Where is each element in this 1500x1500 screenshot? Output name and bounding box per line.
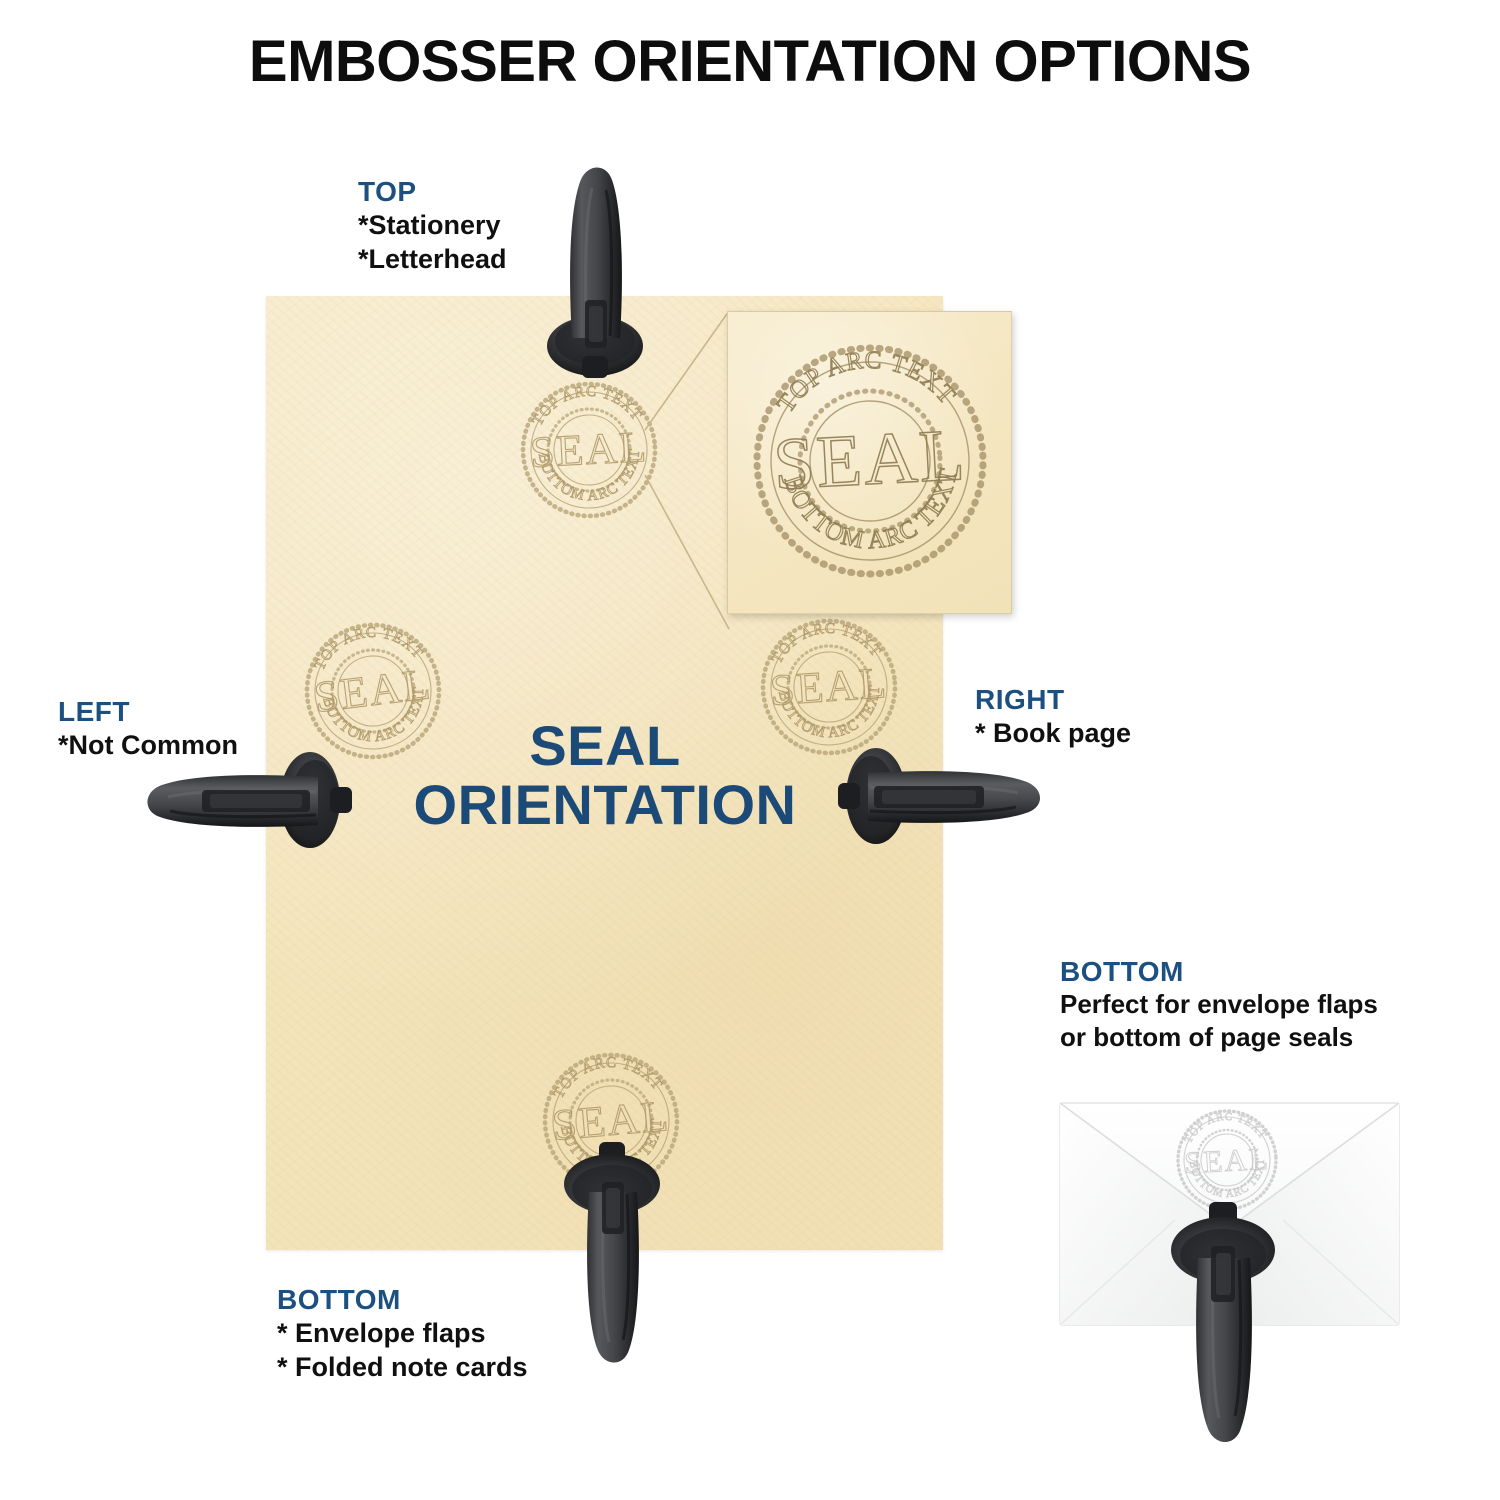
annotation-right: RIGHT * Book page: [975, 684, 1131, 750]
annotation-left-heading: LEFT: [58, 696, 238, 728]
svg-text:BOTTOM ARC TEXT: BOTTOM ARC TEXT: [778, 464, 967, 559]
annotation-right-heading: RIGHT: [975, 684, 1131, 716]
page-title: EMBOSSER ORIENTATION OPTIONS: [0, 28, 1500, 95]
annotation-top-line-2: *Letterhead: [358, 242, 507, 276]
embosser-bottom: [557, 1140, 667, 1380]
annotation-bottom-left-line-2: * Folded note cards: [277, 1350, 528, 1384]
annotation-bottom-left-heading: BOTTOM: [277, 1284, 528, 1316]
svg-text:TOP ARC TEXT: TOP ARC TEXT: [770, 342, 962, 419]
annotation-top-heading: TOP: [358, 176, 507, 208]
seal-impression-magnified: TOP ARC TEXT BOTTOM ARC TEXT SEAL: [739, 330, 1002, 593]
annotation-bottom-left: BOTTOM * Envelope flaps * Folded note ca…: [277, 1284, 528, 1384]
embosser-envelope: [1163, 1200, 1283, 1460]
annotation-bottom-right: BOTTOM Perfect for envelope flaps or bot…: [1060, 956, 1378, 1054]
infographic-canvas: EMBOSSER ORIENTATION OPTIONS TOP ARC TEX…: [0, 0, 1500, 1500]
svg-text:SEAL: SEAL: [771, 414, 968, 506]
annotation-right-line-1: * Book page: [975, 716, 1131, 750]
magnified-seal-panel: TOP ARC TEXT BOTTOM ARC TEXT SEAL: [727, 311, 1012, 614]
annotation-bottom-right-heading: BOTTOM: [1060, 956, 1378, 988]
annotation-bottom-right-line-2: or bottom of page seals: [1060, 1021, 1378, 1054]
annotation-left: LEFT *Not Common: [58, 696, 238, 762]
embosser-right: [838, 740, 1088, 850]
annotation-left-line-1: *Not Common: [58, 728, 238, 762]
annotation-bottom-right-line-1: Perfect for envelope flaps: [1060, 988, 1378, 1021]
embosser-top: [540, 150, 650, 380]
center-label-line1: SEAL: [366, 716, 844, 775]
annotation-top: TOP *Stationery *Letterhead: [358, 176, 507, 276]
annotation-top-line-1: *Stationery: [358, 208, 507, 242]
center-seal-orientation-label: SEAL ORIENTATION: [366, 716, 844, 835]
annotation-bottom-left-line-1: * Envelope flaps: [277, 1316, 528, 1350]
center-label-line2: ORIENTATION: [366, 775, 844, 834]
